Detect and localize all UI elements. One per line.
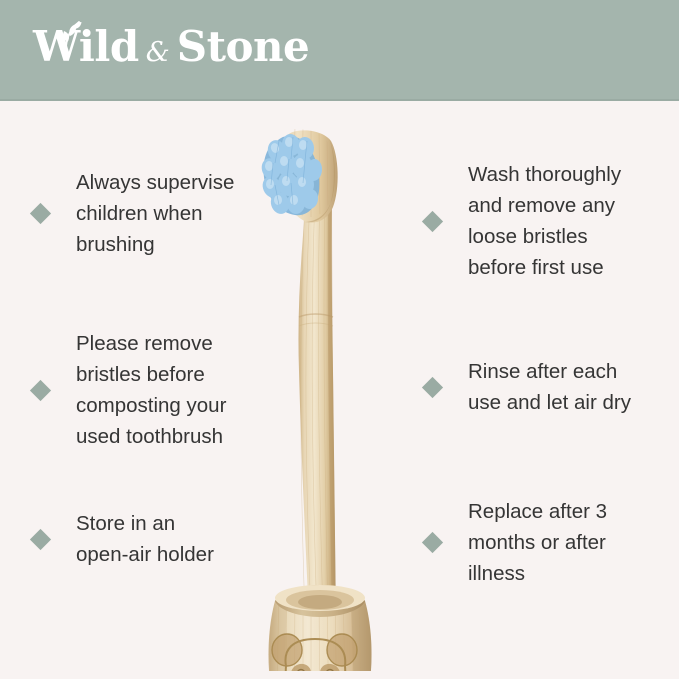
tip-text: Store in an open-air holder xyxy=(76,508,214,570)
brand-word-stone: Stone xyxy=(177,26,310,68)
tip-remove-bristles-composting: Please remove bristles before composting… xyxy=(0,328,226,452)
tip-text: Replace after 3 months or after illness xyxy=(468,496,607,589)
tip-text: Rinse after each use and let air dry xyxy=(468,356,631,418)
diamond-bullet-icon xyxy=(30,379,51,400)
diamond-bullet-icon xyxy=(422,532,443,553)
brand-ampersand: & xyxy=(146,39,170,66)
tip-text: Always supervise children when brushing xyxy=(76,167,234,260)
brand-word-wild: Wild xyxy=(33,26,139,68)
tip-text: Please remove bristles before composting… xyxy=(76,328,226,452)
tip-open-air-holder: Store in an open-air holder xyxy=(0,508,214,570)
brand-header: Wild & Stone xyxy=(0,0,679,101)
tip-replace-after-3-months: Replace after 3 months or after illness xyxy=(415,496,607,589)
diamond-bullet-icon xyxy=(30,203,51,224)
tip-wash-before-first-use: Wash thoroughly and remove any loose bri… xyxy=(415,159,621,283)
care-instructions-panel: Always supervise children when brushing … xyxy=(0,101,679,679)
diamond-bullet-icon xyxy=(422,376,443,397)
tip-rinse-air-dry: Rinse after each use and let air dry xyxy=(415,356,631,418)
tip-supervise-children: Always supervise children when brushing xyxy=(0,167,234,260)
tip-text: Wash thoroughly and remove any loose bri… xyxy=(468,159,621,283)
diamond-bullet-icon xyxy=(30,528,51,549)
brand-logo: Wild & Stone xyxy=(33,26,309,82)
diamond-bullet-icon xyxy=(422,210,443,231)
